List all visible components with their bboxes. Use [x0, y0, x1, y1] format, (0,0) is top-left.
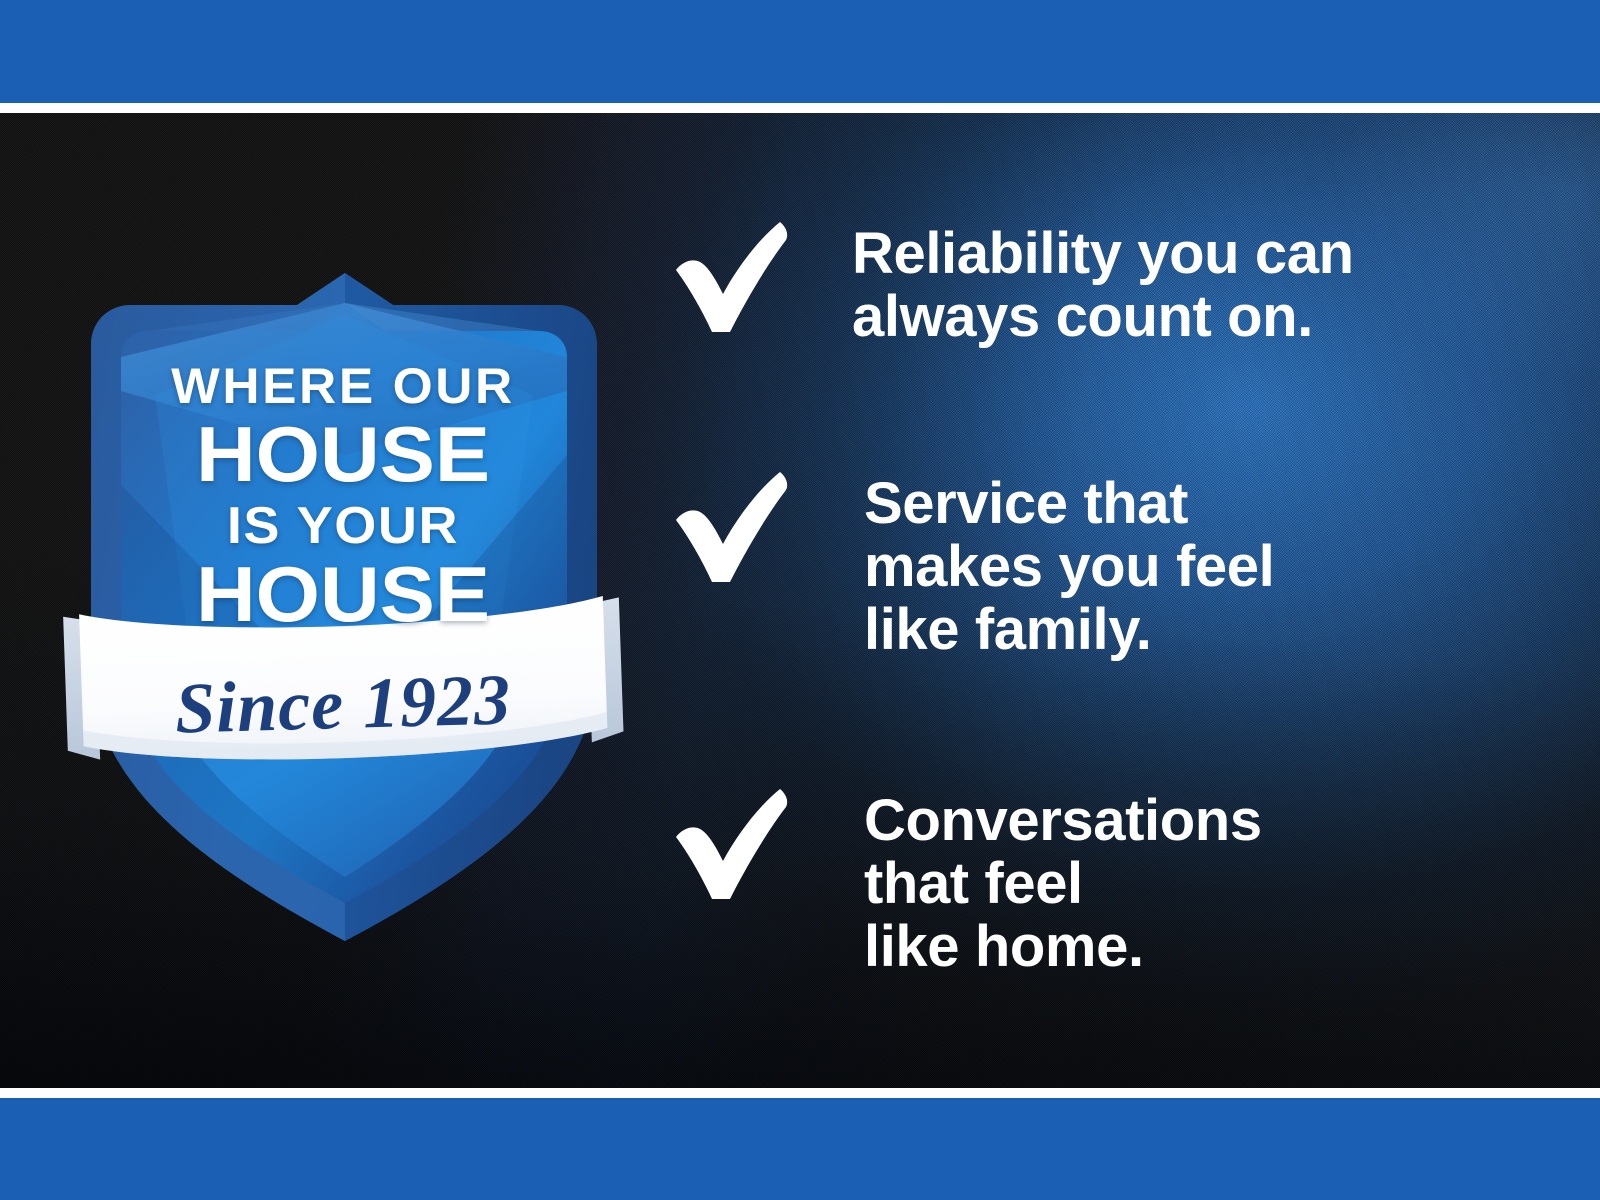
benefits-list: Reliability you can always count on. Ser…	[668, 113, 1548, 1088]
checkmark-icon	[668, 218, 792, 338]
shield-badge: WHERE OUR HOUSE IS YOUR HOUSE Since 1923	[63, 155, 623, 945]
benefit-text-1: Reliability you can always count on.	[852, 218, 1548, 348]
benefit-item-1: Reliability you can always count on.	[668, 218, 1548, 348]
benefit-text-3: Conversations that feel like home.	[864, 785, 1548, 979]
promo-graphic: WHERE OUR HOUSE IS YOUR HOUSE Since 1923…	[0, 0, 1600, 1200]
top-accent-bar	[0, 0, 1600, 103]
bottom-accent-bar	[0, 1098, 1600, 1200]
checkmark-icon	[668, 785, 792, 905]
benefit-item-2: Service that makes you feel like family.	[668, 468, 1548, 662]
benefit-text-2: Service that makes you feel like family.	[864, 468, 1548, 662]
checkmark-icon	[668, 468, 792, 588]
benefit-item-3: Conversations that feel like home.	[668, 785, 1548, 979]
